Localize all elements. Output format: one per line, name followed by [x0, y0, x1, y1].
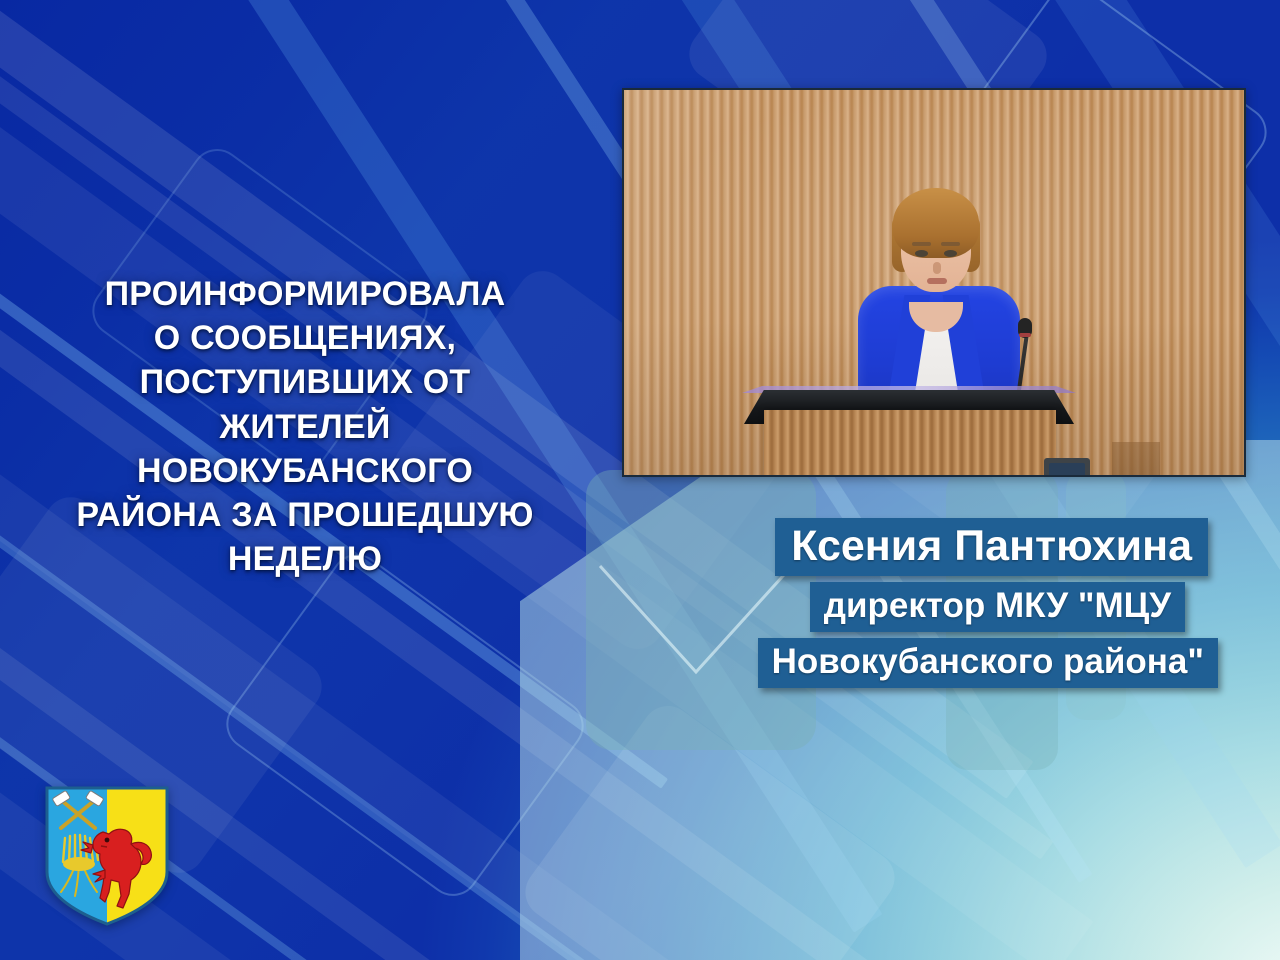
speaker-mouth — [927, 278, 947, 284]
speaker-eyebrow-left — [912, 242, 931, 246]
speaker-eyebrow-right — [941, 242, 960, 246]
speaker-name: Ксения Пантюхина — [775, 518, 1208, 576]
coat-of-arms-icon — [45, 786, 169, 926]
speaker-nose — [933, 262, 941, 274]
lower-third: Ксения Пантюхина директор МКУ "МЦУ Новок… — [0, 518, 1280, 688]
podium-monitor — [1044, 458, 1090, 477]
slide-canvas: ПРОИНФОРМИРОВАЛА О СООБЩЕНИЯХ, ПОСТУПИВШ… — [0, 0, 1280, 960]
speaker-eye-left — [915, 250, 928, 257]
speaker-eye-right — [944, 250, 957, 257]
headline-line: ПРОИНФОРМИРОВАЛА — [22, 272, 588, 316]
headline-line: ПОСТУПИВШИХ ОТ — [22, 360, 588, 404]
speaker-photo — [622, 88, 1246, 477]
speaker-role-line-1: директор МКУ "МЦУ — [810, 582, 1185, 632]
headline-line: НОВОКУБАНСКОГО — [22, 449, 588, 493]
headline-line: О СООБЩЕНИЯХ, — [22, 316, 588, 360]
microphone-indicator — [1019, 333, 1031, 337]
speaker-role-line-2: Новокубанского района" — [758, 638, 1218, 688]
headline-line: ЖИТЕЛЕЙ — [22, 405, 588, 449]
podium-front-panel — [764, 410, 1056, 477]
speaker-hair — [893, 188, 979, 258]
